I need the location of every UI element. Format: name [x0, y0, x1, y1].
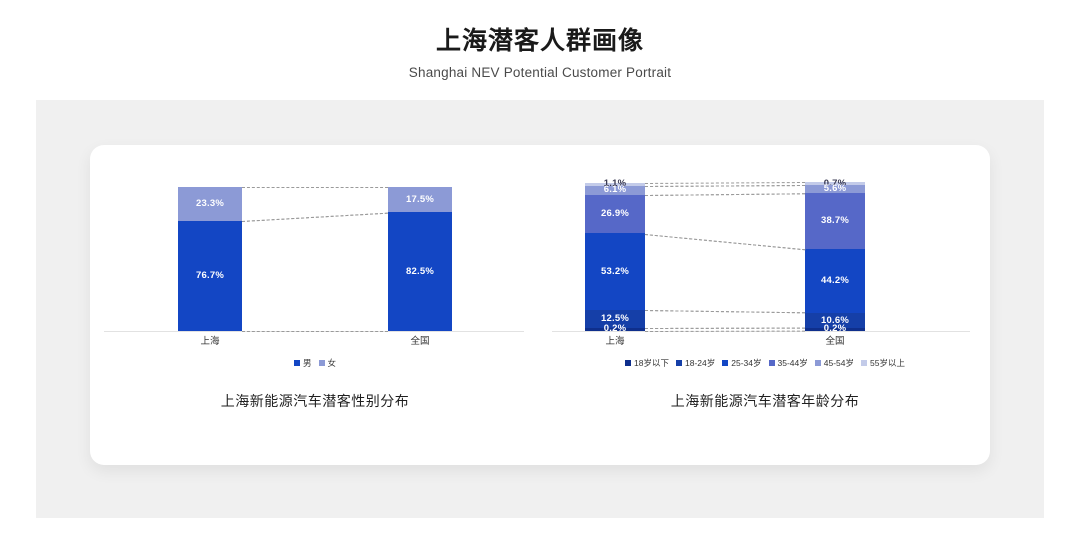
gender-bar-national[interactable]: 17.5%82.5%	[388, 187, 452, 331]
age-connector-line	[645, 193, 805, 196]
age-segment-1-0[interactable]: 0.2%	[805, 328, 865, 331]
age-category-labels: 上海 全国	[540, 333, 990, 349]
page-header: 上海潜客人群画像 Shanghai NEV Potential Customer…	[0, 0, 1080, 96]
gender-connector-line	[242, 212, 388, 221]
age-legend-item-4[interactable]: 45-54岁	[815, 357, 854, 369]
gender-chart-caption: 上海新能源汽车潜客性别分布	[90, 391, 540, 411]
gender-legend-label: 女	[328, 357, 337, 369]
charts-card: 23.3%76.7% 17.5%82.5% 上海 全国 男女 上海新能源汽车潜客…	[90, 145, 990, 465]
age-legend-label: 18-24岁	[685, 357, 715, 369]
age-segment-0-3[interactable]: 26.9%	[585, 195, 645, 234]
chart-age-distribution: 1.1%6.1%26.9%53.2%12.5%0.2% 0.7%5.6%38.7…	[540, 145, 990, 465]
age-connector-line	[645, 193, 805, 196]
gender-category-0: 上海	[175, 333, 245, 347]
age-connector-line	[645, 310, 805, 313]
gender-legend-item-1[interactable]: 女	[319, 357, 337, 369]
page-title: 上海潜客人群画像	[0, 0, 1080, 57]
age-legend-label: 18岁以下	[634, 357, 669, 369]
age-segment-label: 44.2%	[821, 276, 849, 286]
gender-segment-0-0[interactable]: 76.7%	[178, 221, 242, 331]
age-legend-label: 55岁以上	[870, 357, 905, 369]
age-bar-shanghai[interactable]: 1.1%6.1%26.9%53.2%12.5%0.2%	[585, 183, 645, 331]
gender-category-1: 全国	[385, 333, 455, 347]
gender-segment-label: 17.5%	[406, 195, 434, 205]
gender-legend-label: 男	[303, 357, 312, 369]
age-segment-1-4[interactable]: 5.6%	[805, 185, 865, 193]
age-legend-label: 25-34岁	[731, 357, 761, 369]
gender-segment-label: 82.5%	[406, 267, 434, 277]
legend-swatch-icon	[319, 360, 325, 366]
age-category-0: 上海	[580, 333, 650, 347]
age-legend-label: 45-54岁	[824, 357, 854, 369]
age-segment-0-4[interactable]: 6.1%	[585, 186, 645, 195]
gender-segment-label: 23.3%	[196, 199, 224, 209]
age-legend: 18岁以下18-24岁25-34岁35-44岁45-54岁55岁以上	[540, 357, 990, 369]
age-connector-line	[645, 185, 805, 187]
age-legend-label: 35-44岁	[778, 357, 808, 369]
age-legend-item-2[interactable]: 25-34岁	[722, 357, 761, 369]
gender-segment-0-1[interactable]: 23.3%	[178, 187, 242, 221]
age-plot-area: 1.1%6.1%26.9%53.2%12.5%0.2% 0.7%5.6%38.7…	[540, 187, 990, 332]
legend-swatch-icon	[722, 360, 728, 366]
age-segment-0-2[interactable]: 53.2%	[585, 233, 645, 310]
age-connector-line	[645, 234, 805, 250]
age-connector-line	[645, 328, 805, 329]
age-chart-caption: 上海新能源汽车潜客年龄分布	[540, 391, 990, 411]
legend-swatch-icon	[769, 360, 775, 366]
legend-swatch-icon	[861, 360, 867, 366]
age-segment-label: 38.7%	[821, 216, 849, 226]
gender-legend: 男女	[90, 357, 540, 369]
age-legend-item-5[interactable]: 55岁以上	[861, 357, 905, 369]
gender-segment-1-0[interactable]: 82.5%	[388, 212, 452, 331]
age-segment-1-2[interactable]: 44.2%	[805, 249, 865, 313]
legend-swatch-icon	[815, 360, 821, 366]
age-segment-1-3[interactable]: 38.7%	[805, 193, 865, 249]
chart-gender-distribution: 23.3%76.7% 17.5%82.5% 上海 全国 男女 上海新能源汽车潜客…	[90, 145, 540, 465]
gender-plot-area: 23.3%76.7% 17.5%82.5%	[90, 187, 540, 332]
age-connector-line	[645, 182, 805, 184]
age-legend-item-1[interactable]: 18-24岁	[676, 357, 715, 369]
age-segment-label: 6.1%	[604, 185, 626, 195]
age-category-1: 全国	[800, 333, 870, 347]
charts-row: 23.3%76.7% 17.5%82.5% 上海 全国 男女 上海新能源汽车潜客…	[90, 145, 990, 465]
legend-swatch-icon	[294, 360, 300, 366]
age-bar-national[interactable]: 0.7%5.6%38.7%44.2%10.6%0.2%	[805, 182, 865, 331]
gender-connector-line	[242, 187, 388, 188]
gender-category-labels: 上海 全国	[90, 333, 540, 349]
legend-swatch-icon	[676, 360, 682, 366]
gender-bar-shanghai[interactable]: 23.3%76.7%	[178, 187, 242, 331]
age-segment-label: 26.9%	[601, 209, 629, 219]
gender-axis-line	[104, 331, 524, 332]
gender-connector-line	[242, 212, 388, 221]
age-connector-line	[645, 310, 805, 313]
legend-swatch-icon	[625, 360, 631, 366]
age-legend-item-0[interactable]: 18岁以下	[625, 357, 669, 369]
age-legend-item-3[interactable]: 35-44岁	[769, 357, 808, 369]
gender-segment-label: 76.7%	[196, 271, 224, 281]
age-segment-label: 12.5%	[601, 314, 629, 324]
age-segment-label: 53.2%	[601, 267, 629, 277]
page-subtitle: Shanghai NEV Potential Customer Portrait	[0, 57, 1080, 80]
age-connector-line	[645, 328, 805, 329]
gender-segment-1-1[interactable]: 17.5%	[388, 187, 452, 212]
age-segment-0-0[interactable]: 0.2%	[585, 328, 645, 331]
age-connector-line	[645, 234, 805, 250]
age-connector-line	[645, 185, 805, 187]
gender-legend-item-0[interactable]: 男	[294, 357, 312, 369]
